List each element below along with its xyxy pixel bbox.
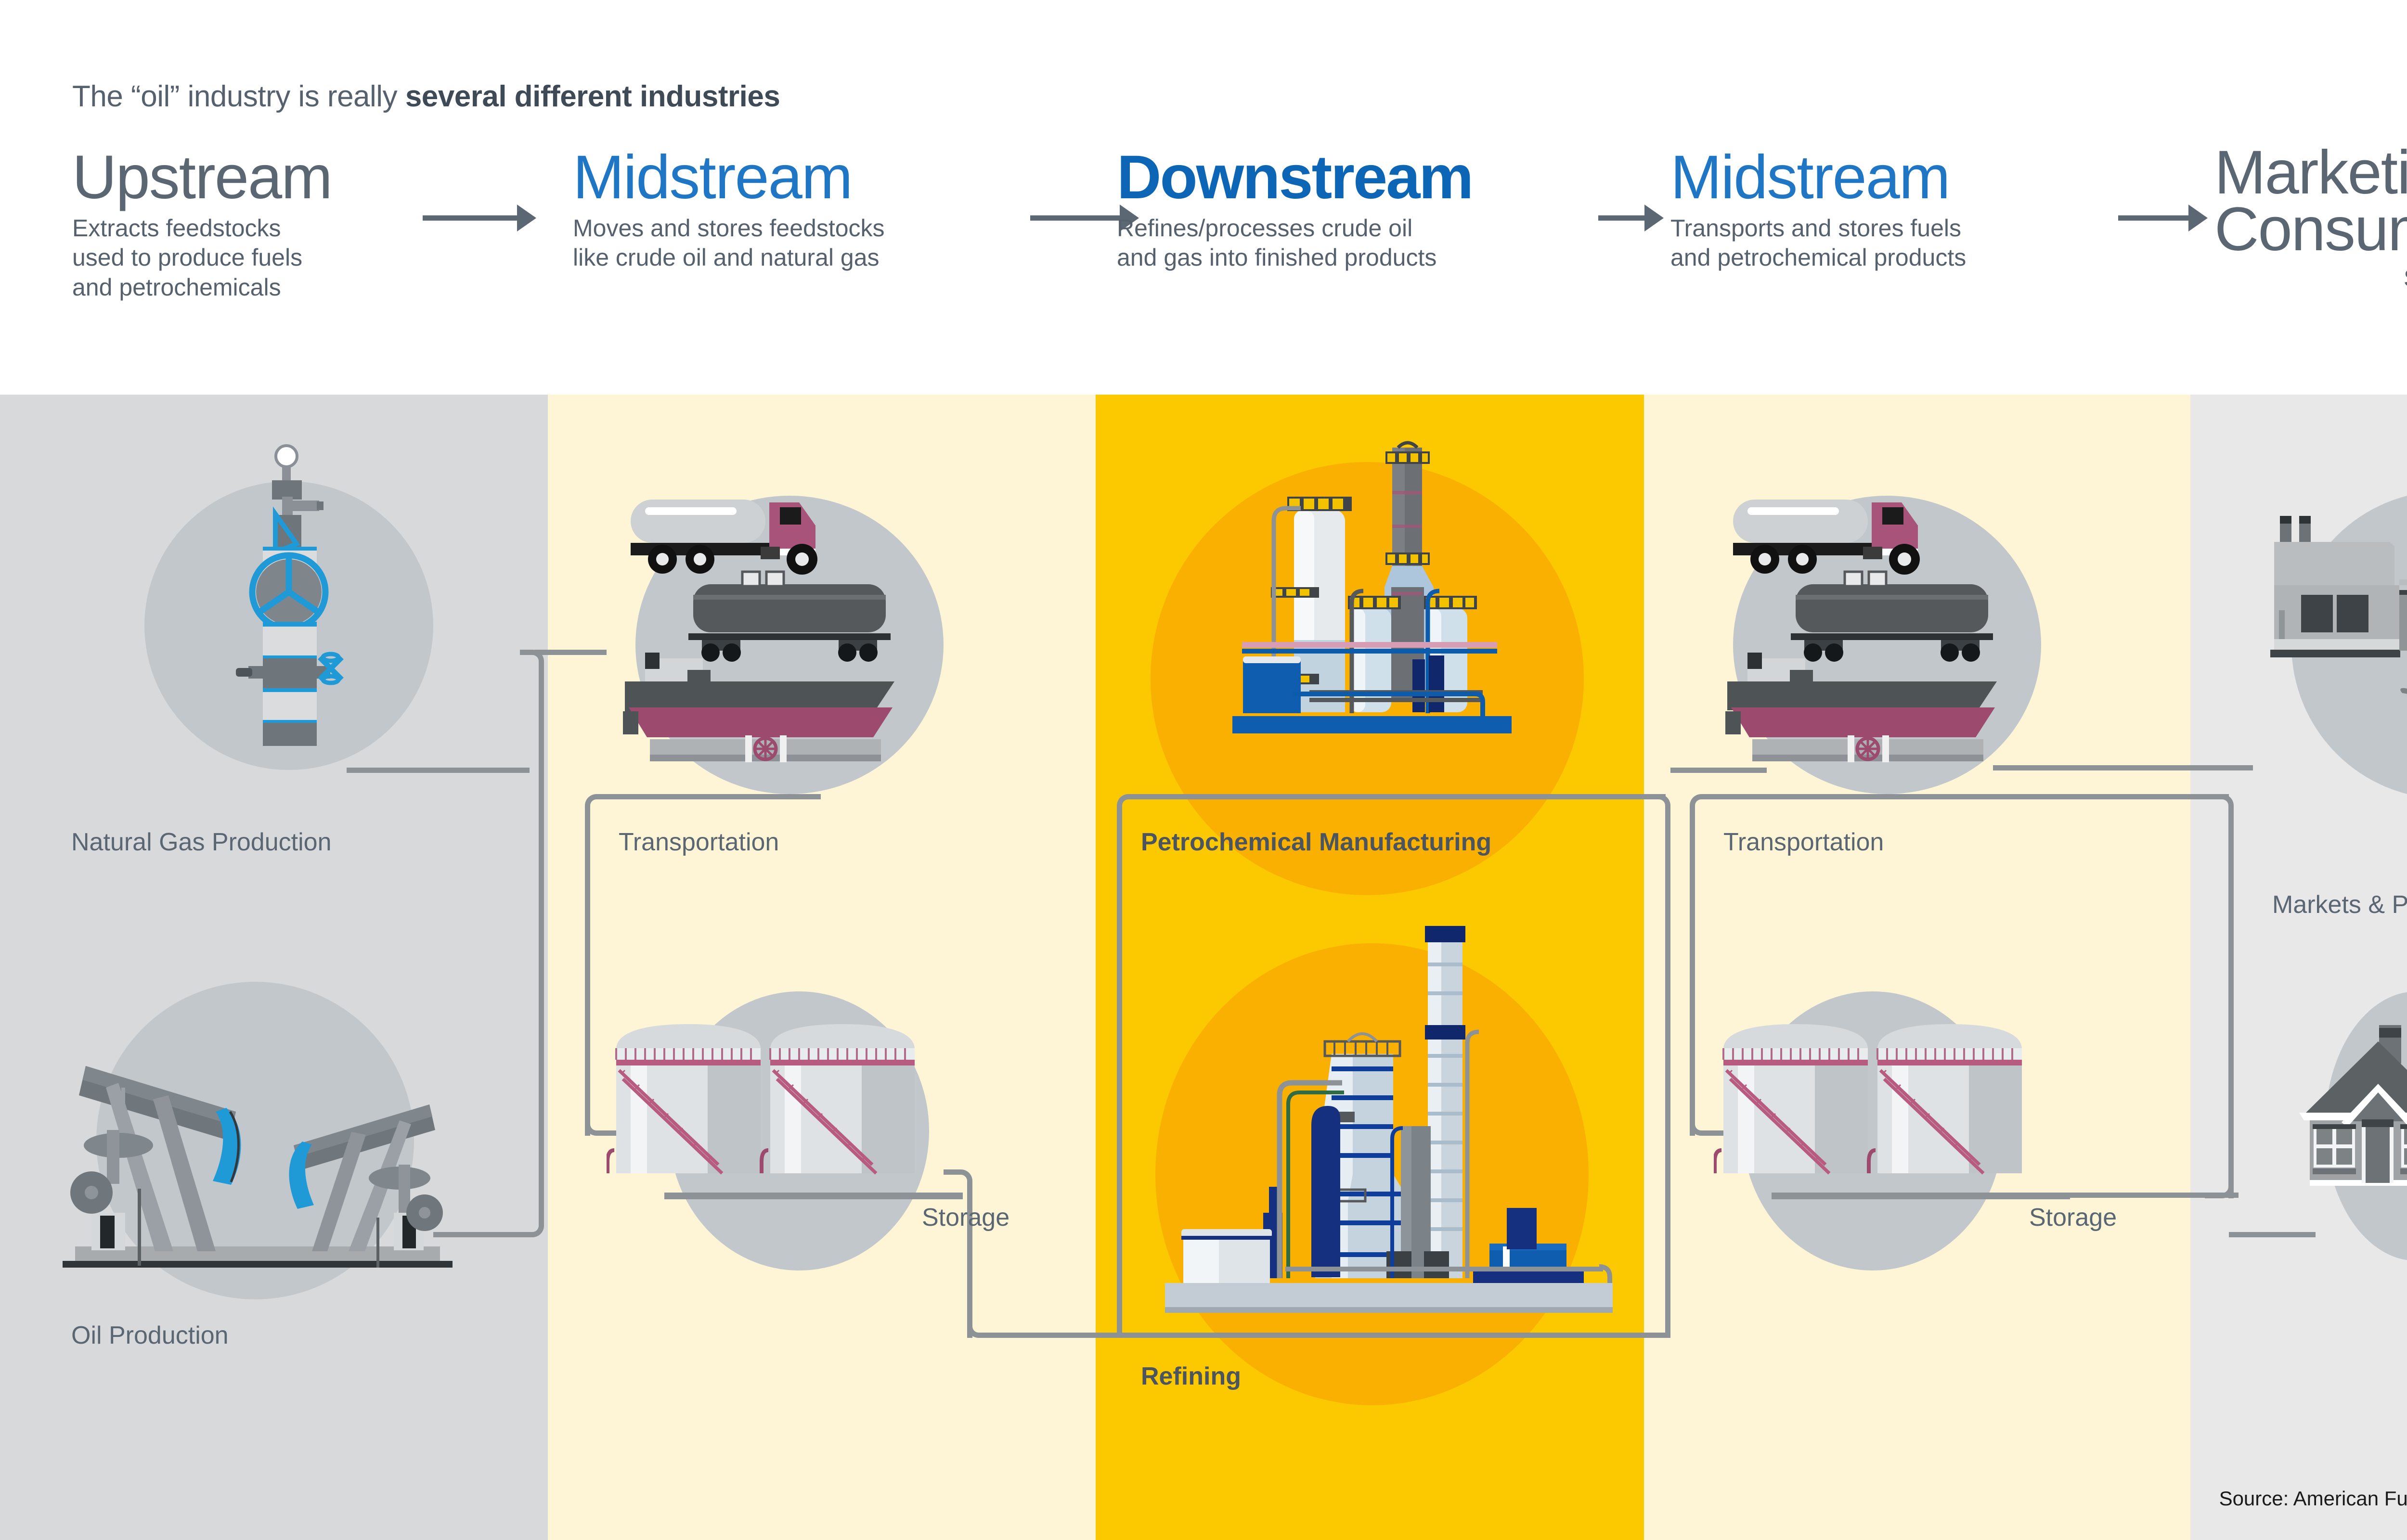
pipe-downstream-top	[1141, 794, 1666, 799]
natural-gas-wellhead-icon	[168, 433, 409, 799]
header-stage-desc: Transports and stores fuels and petroche…	[1670, 214, 2181, 273]
source-credit: Source: American Fuel & Petrochemical Ma…	[2219, 1487, 2407, 1510]
header-stage-desc: Moves and stores feedstocks like crude o…	[573, 214, 1093, 273]
header-stage-midstream-1: Midstream Moves and stores feedstocks li…	[573, 149, 1093, 273]
storage-tanks-icon	[1714, 1020, 2070, 1203]
caption-storage-1: Storage	[922, 1203, 1009, 1232]
arrow-right-icon	[2118, 205, 2210, 231]
header-stage-downstream: Downstream Refines/processes crude oil a…	[1117, 149, 1642, 273]
pipe-transport-top	[609, 794, 821, 799]
pipe-corner	[520, 762, 544, 1237]
caption-refining: Refining	[1141, 1362, 1241, 1391]
caption-markets: Markets & Products	[2272, 890, 2407, 919]
storage-tanks-icon	[607, 1020, 963, 1203]
pipe-gas-to-transport	[534, 650, 607, 655]
refinery-icon	[1141, 910, 1632, 1333]
header-stage-desc: Refines/processes crude oil and gas into…	[1117, 214, 1642, 273]
caption-petrochemical: Petrochemical Manufacturing	[1141, 828, 1491, 857]
pipe-transport2-top	[1714, 794, 2229, 799]
header-stage-title: Midstream	[1670, 149, 2181, 206]
header-stage-title: Midstream	[573, 149, 1093, 206]
transportation-icon	[616, 481, 963, 780]
pipe-downstream-left	[1117, 818, 1122, 1338]
kicker-plain: The “oil” industry is really	[72, 80, 405, 113]
kicker-line: The “oil” industry is really several dif…	[72, 79, 780, 114]
house-gas-pump-icon	[2282, 1001, 2407, 1261]
arrow-right-icon	[423, 205, 538, 231]
petrochemical-plant-icon	[1213, 433, 1550, 794]
header-stage-title: Marketing & Consumers	[2214, 144, 2407, 258]
oil-pumpjack-icon	[29, 1001, 486, 1270]
pipe-downstream-bottom	[1122, 1333, 1670, 1338]
arrow-right-icon	[1598, 205, 1670, 231]
pipe-transport-down	[585, 818, 590, 1136]
infographic-root: The “oil” industry is really several dif…	[0, 0, 2407, 1540]
pipe-downstream-right	[1665, 818, 1670, 1338]
pipe-corner	[2205, 1169, 2234, 1198]
caption-transportation-2: Transportation	[1723, 828, 1884, 857]
header-stage-title: Downstream	[1117, 149, 1642, 206]
caption-transportation-1: Transportation	[619, 828, 779, 857]
caption-oil-production: Oil Production	[71, 1321, 229, 1350]
header-stage-midstream-2: Midstream Transports and stores fuels an…	[1670, 149, 2181, 273]
pipe-corner	[520, 650, 544, 770]
markets-factory-plane-icon	[2258, 491, 2407, 818]
header-stage-marketing: Marketing & Consumers Sells & uses finis…	[2214, 144, 2407, 293]
header: The “oil” industry is really several dif…	[0, 0, 2407, 395]
caption-natural-gas: Natural Gas Production	[71, 828, 332, 857]
caption-storage-2: Storage	[2029, 1203, 2117, 1232]
transportation-icon	[1719, 481, 2065, 780]
pipe-transport2-down	[1690, 818, 1695, 1136]
pipe-market-down	[2228, 818, 2234, 1198]
header-stage-desc: Sells & uses finished products	[2214, 264, 2407, 294]
kicker-bold: several different industries	[405, 80, 780, 113]
header-stage-title: Upstream	[72, 149, 558, 206]
